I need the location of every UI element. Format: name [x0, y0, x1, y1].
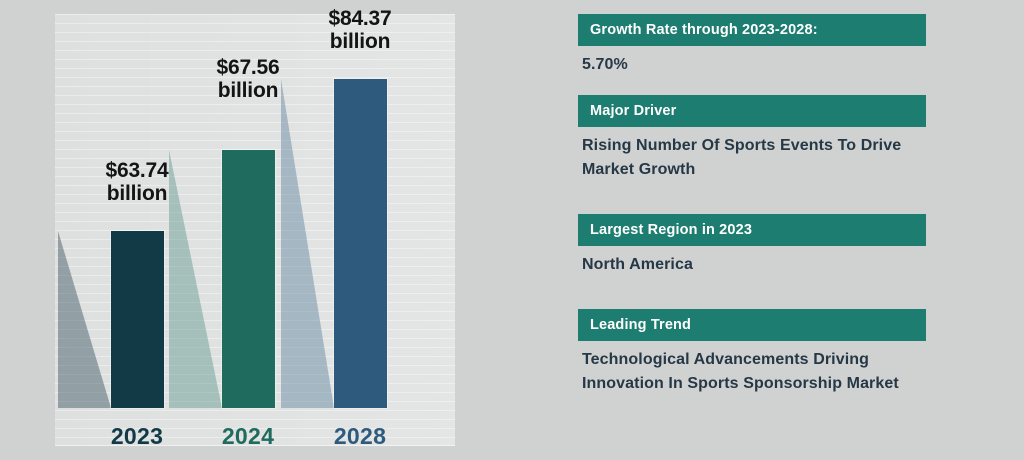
info-header-major-driver: Major Driver — [578, 95, 926, 127]
bar-value-unit-2028: billion — [300, 31, 420, 54]
growth-wedge-2023 — [58, 231, 111, 408]
info-value-line: Rising Number Of Sports Events To Drive — [582, 134, 926, 158]
info-value-line: 5.70% — [582, 53, 926, 77]
bar-value-label-2028: $84.37 billion — [300, 8, 420, 53]
bar-value-amount-2023: $63.74 — [77, 160, 197, 183]
info-value-growth-rate: 5.70% — [578, 46, 926, 77]
info-value-line: Innovation In Sports Sponsorship Market — [582, 372, 926, 396]
info-value-line: Technological Advancements Driving — [582, 348, 926, 372]
info-value-major-driver: Rising Number Of Sports Events To Drive … — [578, 127, 926, 182]
info-block-major-driver: Major Driver Rising Number Of Sports Eve… — [578, 95, 926, 182]
axis-label-2024: 2024 — [193, 423, 303, 450]
bar-chart: $63.74 billion $67.56 billion $84.37 bil… — [0, 0, 520, 460]
bar-value-label-2024: $67.56 billion — [188, 57, 308, 102]
info-value-largest-region: North America — [578, 246, 926, 277]
info-header-leading-trend: Leading Trend — [578, 309, 926, 341]
info-header-growth-rate: Growth Rate through 2023-2028: — [578, 14, 926, 46]
info-header-largest-region: Largest Region in 2023 — [578, 214, 926, 246]
bar-value-unit-2024: billion — [188, 80, 308, 103]
info-block-growth-rate: Growth Rate through 2023-2028: 5.70% — [578, 14, 926, 77]
growth-wedge-2028 — [281, 79, 334, 408]
info-value-leading-trend: Technological Advancements Driving Innov… — [578, 341, 926, 396]
info-panel: Growth Rate through 2023-2028: 5.70% Maj… — [578, 0, 978, 460]
bar-value-unit-2023: billion — [77, 183, 197, 206]
axis-label-2023: 2023 — [82, 423, 192, 450]
bar-value-amount-2024: $67.56 — [188, 57, 308, 80]
bar-2024[interactable] — [222, 150, 275, 408]
info-block-leading-trend: Leading Trend Technological Advancements… — [578, 309, 926, 396]
bar-value-label-2023: $63.74 billion — [77, 160, 197, 205]
bar-2028[interactable] — [334, 79, 387, 408]
bar-value-amount-2028: $84.37 — [300, 8, 420, 31]
info-value-line: North America — [582, 253, 926, 277]
axis-label-2028: 2028 — [305, 423, 415, 450]
bar-2023[interactable] — [111, 231, 164, 408]
info-value-line: Market Growth — [582, 158, 926, 182]
info-block-largest-region: Largest Region in 2023 North America — [578, 214, 926, 277]
